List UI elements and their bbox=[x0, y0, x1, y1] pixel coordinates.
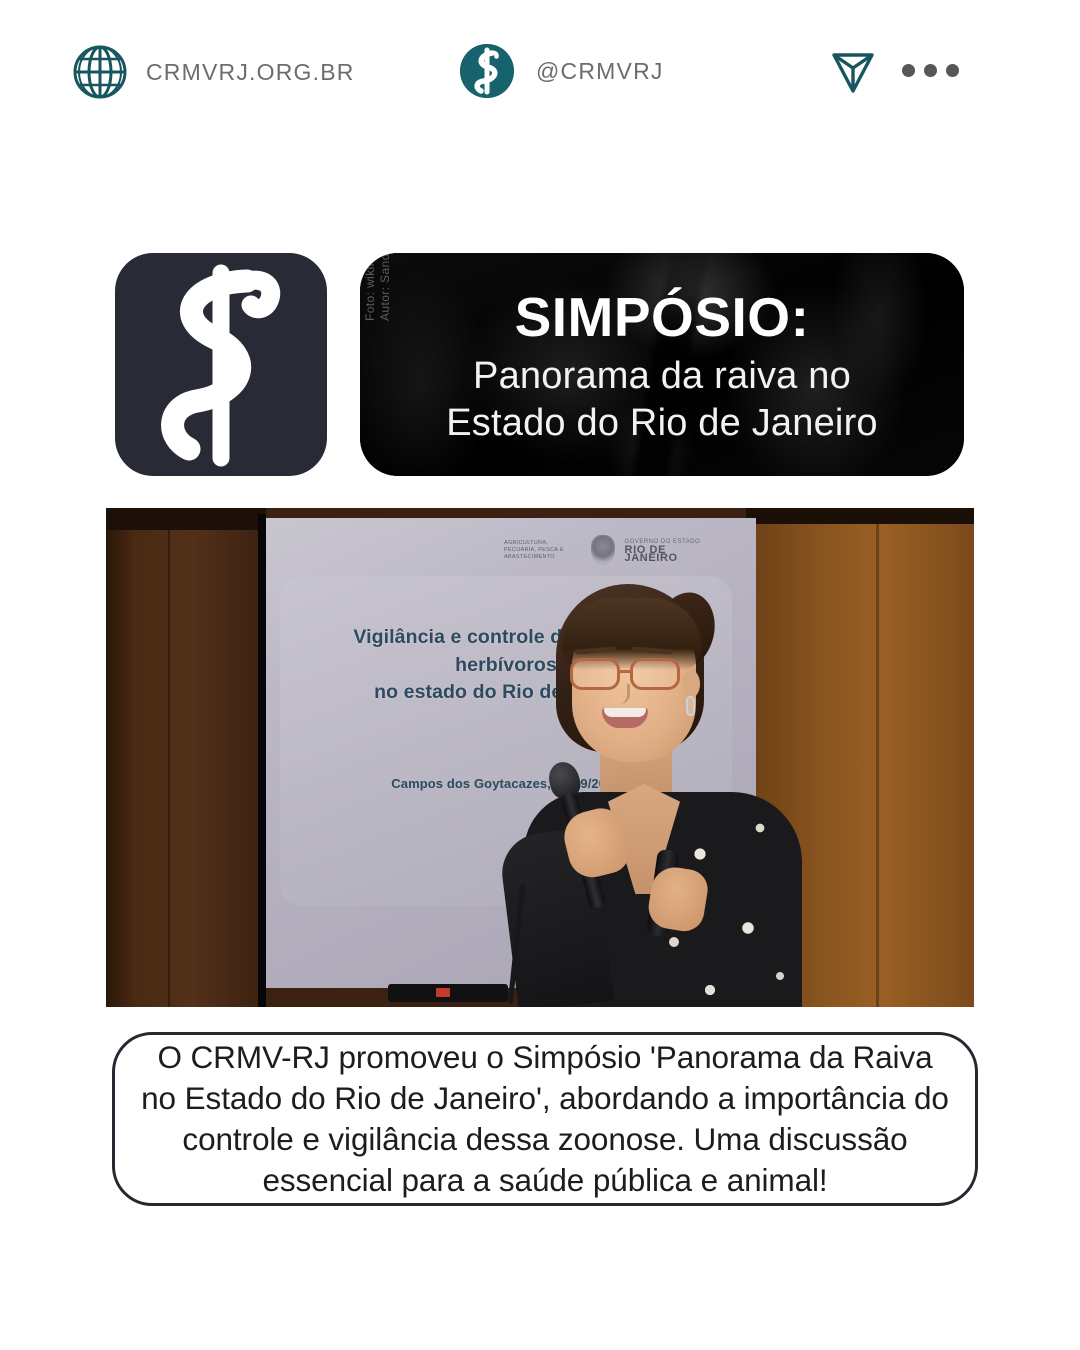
website-label: CRMVRJ.ORG.BR bbox=[146, 59, 355, 86]
header-actions bbox=[830, 46, 959, 94]
more-options-icon[interactable] bbox=[902, 64, 959, 77]
profile-handle-label: @CRMVRJ bbox=[536, 58, 664, 85]
globe-icon bbox=[72, 44, 128, 100]
slide-logo-row: AGRICULTURA, PECUÁRIA, PESCA E ABASTECIM… bbox=[504, 530, 712, 570]
banner-subtitle-line2: Estado do Rio de Janeiro bbox=[446, 400, 878, 446]
send-paper-plane-icon[interactable] bbox=[830, 46, 876, 94]
slide-org-right-big: RIO DE JANEIRO bbox=[625, 546, 712, 562]
post-header: CRMVRJ.ORG.BR @CRMVRJ bbox=[0, 0, 1080, 140]
dot bbox=[946, 64, 959, 77]
speaker-figure bbox=[504, 584, 814, 1007]
banner-subtitle: Panorama da raiva no Estado do Rio de Ja… bbox=[446, 353, 878, 446]
website-link[interactable]: CRMVRJ.ORG.BR bbox=[72, 44, 355, 100]
lens-right bbox=[630, 658, 680, 690]
screen-bottom-bar bbox=[388, 984, 508, 1002]
dot bbox=[902, 64, 915, 77]
eyeglasses bbox=[568, 658, 694, 692]
asclepius-avatar-icon bbox=[460, 44, 514, 98]
event-photo: AGRICULTURA, PECUÁRIA, PESCA E ABASTECIM… bbox=[106, 508, 974, 1007]
caption-text: O CRMV-RJ promoveu o Simpósio 'Panorama … bbox=[141, 1037, 949, 1202]
slide-org-right: GOVERNO DO ESTADO RIO DE JANEIRO bbox=[625, 538, 712, 562]
rod-of-asclepius-logo bbox=[115, 253, 327, 476]
glasses-bridge bbox=[620, 670, 632, 673]
title-banner: Foto: wikimedia.org Autor: Sandstein SIM… bbox=[360, 253, 964, 476]
dot bbox=[924, 64, 937, 77]
lens-left bbox=[570, 658, 620, 690]
wood-wall-left bbox=[106, 508, 266, 1007]
title-row: Foto: wikimedia.org Autor: Sandstein SIM… bbox=[115, 253, 964, 480]
profile-link[interactable]: @CRMVRJ bbox=[460, 44, 664, 98]
slide-org-left-label: AGRICULTURA, PECUÁRIA, PESCA E ABASTECIM… bbox=[504, 540, 581, 561]
banner-kicker: SIMPÓSIO: bbox=[515, 289, 810, 345]
earring bbox=[686, 696, 695, 716]
banner-subtitle-line1: Panorama da raiva no bbox=[446, 353, 878, 399]
projection-screen-frame bbox=[258, 514, 266, 1007]
banner-text-block: SIMPÓSIO: Panorama da raiva no Estado do… bbox=[360, 253, 964, 476]
caption-box: O CRMV-RJ promoveu o Simpósio 'Panorama … bbox=[112, 1032, 978, 1206]
state-crest-icon bbox=[591, 535, 615, 565]
